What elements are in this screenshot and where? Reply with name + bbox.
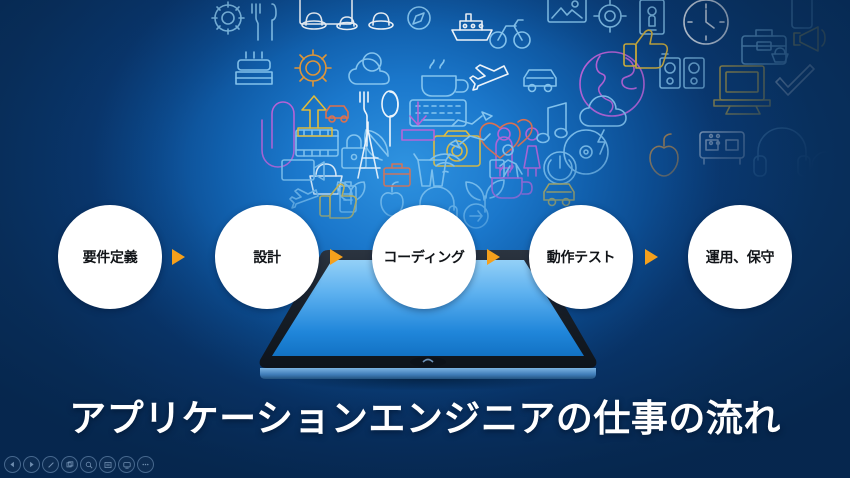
presentation-toolbar <box>4 456 154 473</box>
next-slide-button[interactable] <box>23 456 40 473</box>
present-button[interactable] <box>118 456 135 473</box>
flow-step-design[interactable]: 設計 <box>215 205 319 309</box>
magnifier-icon <box>85 461 93 469</box>
presentation-slide: 要件定義 設計 コーディング 動作テスト 運用、保守 アプリケーションエンジニア… <box>0 0 850 478</box>
ellipsis-icon <box>141 460 150 469</box>
flow-step-label: 運用、保守 <box>706 250 775 264</box>
notes-icon <box>104 461 112 469</box>
monitor-icon <box>123 461 131 469</box>
slides-icon <box>66 461 74 469</box>
zoom-button[interactable] <box>80 456 97 473</box>
flow-arrow <box>487 249 500 265</box>
flow-arrow <box>330 249 343 265</box>
flow-arrow <box>645 249 658 265</box>
previous-slide-button[interactable] <box>4 456 21 473</box>
flow-step-label: 設計 <box>253 250 280 264</box>
flow-step-requirements[interactable]: 要件定義 <box>58 205 162 309</box>
flow-step-operation[interactable]: 運用、保守 <box>688 205 792 309</box>
flow-step-label: 要件定義 <box>83 250 138 264</box>
flow-step-label: 動作テスト <box>547 250 616 264</box>
slide-title: アプリケーションエンジニアの仕事の流れ <box>0 400 850 437</box>
flow-step-testing[interactable]: 動作テスト <box>529 205 633 309</box>
notes-button[interactable] <box>99 456 116 473</box>
triangle-right-icon <box>28 461 35 468</box>
flow-arrow <box>172 249 185 265</box>
flow-step-label: コーディング <box>383 250 464 264</box>
pen-icon <box>47 461 55 469</box>
flow-step-coding[interactable]: コーディング <box>372 205 476 309</box>
triangle-left-icon <box>9 461 16 468</box>
all-slides-button[interactable] <box>61 456 78 473</box>
pen-tool-button[interactable] <box>42 456 59 473</box>
more-options-button[interactable] <box>137 456 154 473</box>
